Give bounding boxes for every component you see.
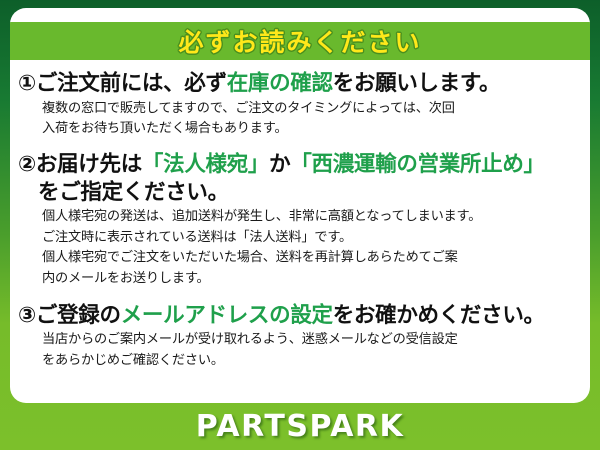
notice-item-3-marker: ③ [18, 303, 36, 328]
notice-item-3: ③ご登録のメールアドレスの設定をお確かめください。 当店からのご案内メールが受け… [18, 302, 578, 371]
notice-item-2-sub-line-2: ご注文時に表示されている送料は「法人送料」です。 [18, 229, 578, 248]
notice-item-2-head-pre: お届け先は [36, 152, 142, 177]
notice-item-3-sub-line-1: 当店からのご案内メールが受け取れるよう、迷惑メールなどの受信設定 [18, 331, 578, 350]
notice-item-1-heading: ①ご注文前には、必ず在庫の確認をお願いします。 [18, 70, 578, 98]
notice-item-2-highlight-depot: 「西濃運輸の営業所止め」 [290, 152, 544, 177]
notice-item-3-head-pre: ご登録の [36, 303, 121, 328]
notice-item-2-marker: ② [18, 152, 36, 177]
notice-item-1-sub-line-1: 複数の窓口で販売してますので、ご注文のタイミングによっては、次回 [18, 100, 578, 119]
notice-item-3-highlight: メールアドレスの設定 [121, 303, 333, 328]
notice-item-1-head-post: をお願いします。 [333, 71, 500, 96]
notice-item-2-sub-line-4: 内のメールをお送りします。 [18, 270, 578, 289]
notice-card: 必ずお読みください ①ご注文前には、必ず在庫の確認をお願いします。 複数の窓口で… [10, 8, 590, 403]
notice-item-2-sub-line-1: 個人様宅宛の発送は、追加送料が発生し、非常に高額となってしまいます。 [18, 208, 578, 227]
brand-logo: PARTSPARK [196, 409, 405, 444]
notice-item-2-highlight-corporate: 「法人様宛」 [142, 152, 269, 177]
notice-item-3-head-post: をお確かめください。 [333, 303, 545, 328]
notice-item-2: ②お届け先は「法人様宛」か「西濃運輸の営業所止め」 をご指定ください。 個人様宅… [18, 151, 578, 289]
notice-body: ①ご注文前には、必ず在庫の確認をお願いします。 複数の窓口で販売してますので、ご… [10, 66, 590, 373]
notice-frame: 必ずお読みください ①ご注文前には、必ず在庫の確認をお願いします。 複数の窓口で… [0, 0, 600, 450]
notice-item-1-sub-line-2: 入荷をお待ち頂いただく場合もあります。 [18, 120, 578, 139]
notice-item-1-highlight: 在庫の確認 [227, 71, 333, 96]
notice-item-2-sub-line-3: 個人様宅宛でご注文をいただいた場合、送料を再計算しあらためてご案 [18, 249, 578, 268]
notice-item-3-heading: ③ご登録のメールアドレスの設定をお確かめください。 [18, 302, 578, 330]
notice-item-2-heading-line2: をご指定ください。 [18, 179, 578, 207]
notice-item-1: ①ご注文前には、必ず在庫の確認をお願いします。 複数の窓口で販売してますので、ご… [18, 70, 578, 139]
header-band: 必ずお読みください [10, 22, 590, 60]
notice-item-2-heading: ②お届け先は「法人様宛」か「西濃運輸の営業所止め」 [18, 151, 578, 179]
notice-item-3-sub-line-2: をあらかじめご確認ください。 [18, 352, 578, 371]
page-title: 必ずお読みください [178, 23, 421, 59]
footer-bar: PARTSPARK [0, 403, 600, 450]
notice-item-1-marker: ① [18, 71, 36, 96]
notice-item-1-head-pre: ご注文前には、必ず [36, 71, 227, 96]
notice-item-2-head-mid: か [269, 152, 290, 177]
